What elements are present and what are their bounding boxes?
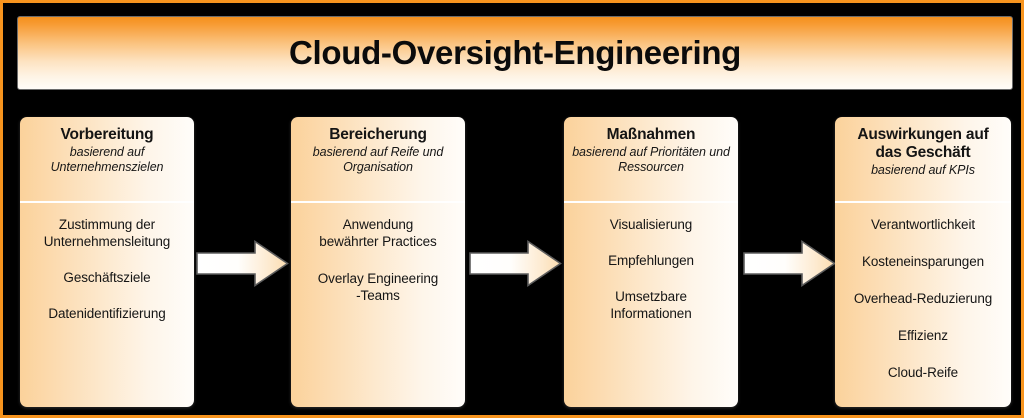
list-item: Cloud-Reife [840,364,1006,381]
process-card-auswirkungen[interactable]: Auswirkungen auf das Geschäft basierend … [835,117,1011,407]
process-card-bereicherung[interactable]: Bereicherung basierend auf Reife und Org… [291,117,465,407]
card-title: Maßnahmen [570,126,732,144]
card-title: Bereicherung [297,126,459,144]
process-card-massnahmen[interactable]: Maßnahmen basierend auf Prioritäten und … [564,117,738,407]
arrow-right-icon-2 [469,240,562,287]
list-item: Umsetzbare Informationen [569,288,733,322]
list-item: Anwendung bewährter Practices [296,216,460,250]
list-item: Zustimmung der Unternehmensleitung [25,216,189,250]
card-header: Auswirkungen auf das Geschäft basierend … [835,117,1011,203]
card-header: Vorbereitung basierend auf Unternehmensz… [20,117,194,203]
card-title: Vorbereitung [26,126,188,144]
list-item: Overhead-Reduzierung [840,290,1006,307]
process-card-vorbereitung[interactable]: Vorbereitung basierend auf Unternehmensz… [20,117,194,407]
card-item-list: Zustimmung der Unternehmensleitung Gesch… [20,203,194,322]
list-item: Datenidentifizierung [25,305,189,322]
card-title: Auswirkungen auf das Geschäft [841,126,1005,162]
card-item-list: Verantwortlichkeit Kosteneinsparungen Ov… [835,203,1011,381]
list-item: Kosteneinsparungen [840,253,1006,270]
page-title: Cloud-Oversight-Engineering [289,34,741,72]
card-subtitle: basierend auf Prioritäten und Ressourcen [570,145,732,175]
diagram-canvas: Cloud-Oversight-Engineering Vorbereitung… [0,0,1024,418]
arrow-right-icon-1 [196,240,289,287]
card-subtitle: basierend auf Reife und Organisation [297,145,459,175]
list-item: Empfehlungen [569,252,733,269]
arrow-right-icon-3 [743,240,836,287]
card-header: Maßnahmen basierend auf Prioritäten und … [564,117,738,203]
card-item-list: Anwendung bewährter Practices Overlay En… [291,203,465,304]
list-item: Verantwortlichkeit [840,216,1006,233]
card-item-list: Visualisierung Empfehlungen Umsetzbare I… [564,203,738,322]
list-item: Geschäftsziele [25,269,189,286]
list-item: Overlay Engineering -Teams [296,270,460,304]
card-subtitle: basierend auf KPIs [841,163,1005,178]
card-subtitle: basierend auf Unternehmenszielen [26,145,188,175]
list-item: Effizienz [840,327,1006,344]
card-header: Bereicherung basierend auf Reife und Org… [291,117,465,203]
title-banner: Cloud-Oversight-Engineering [17,16,1013,90]
list-item: Visualisierung [569,216,733,233]
